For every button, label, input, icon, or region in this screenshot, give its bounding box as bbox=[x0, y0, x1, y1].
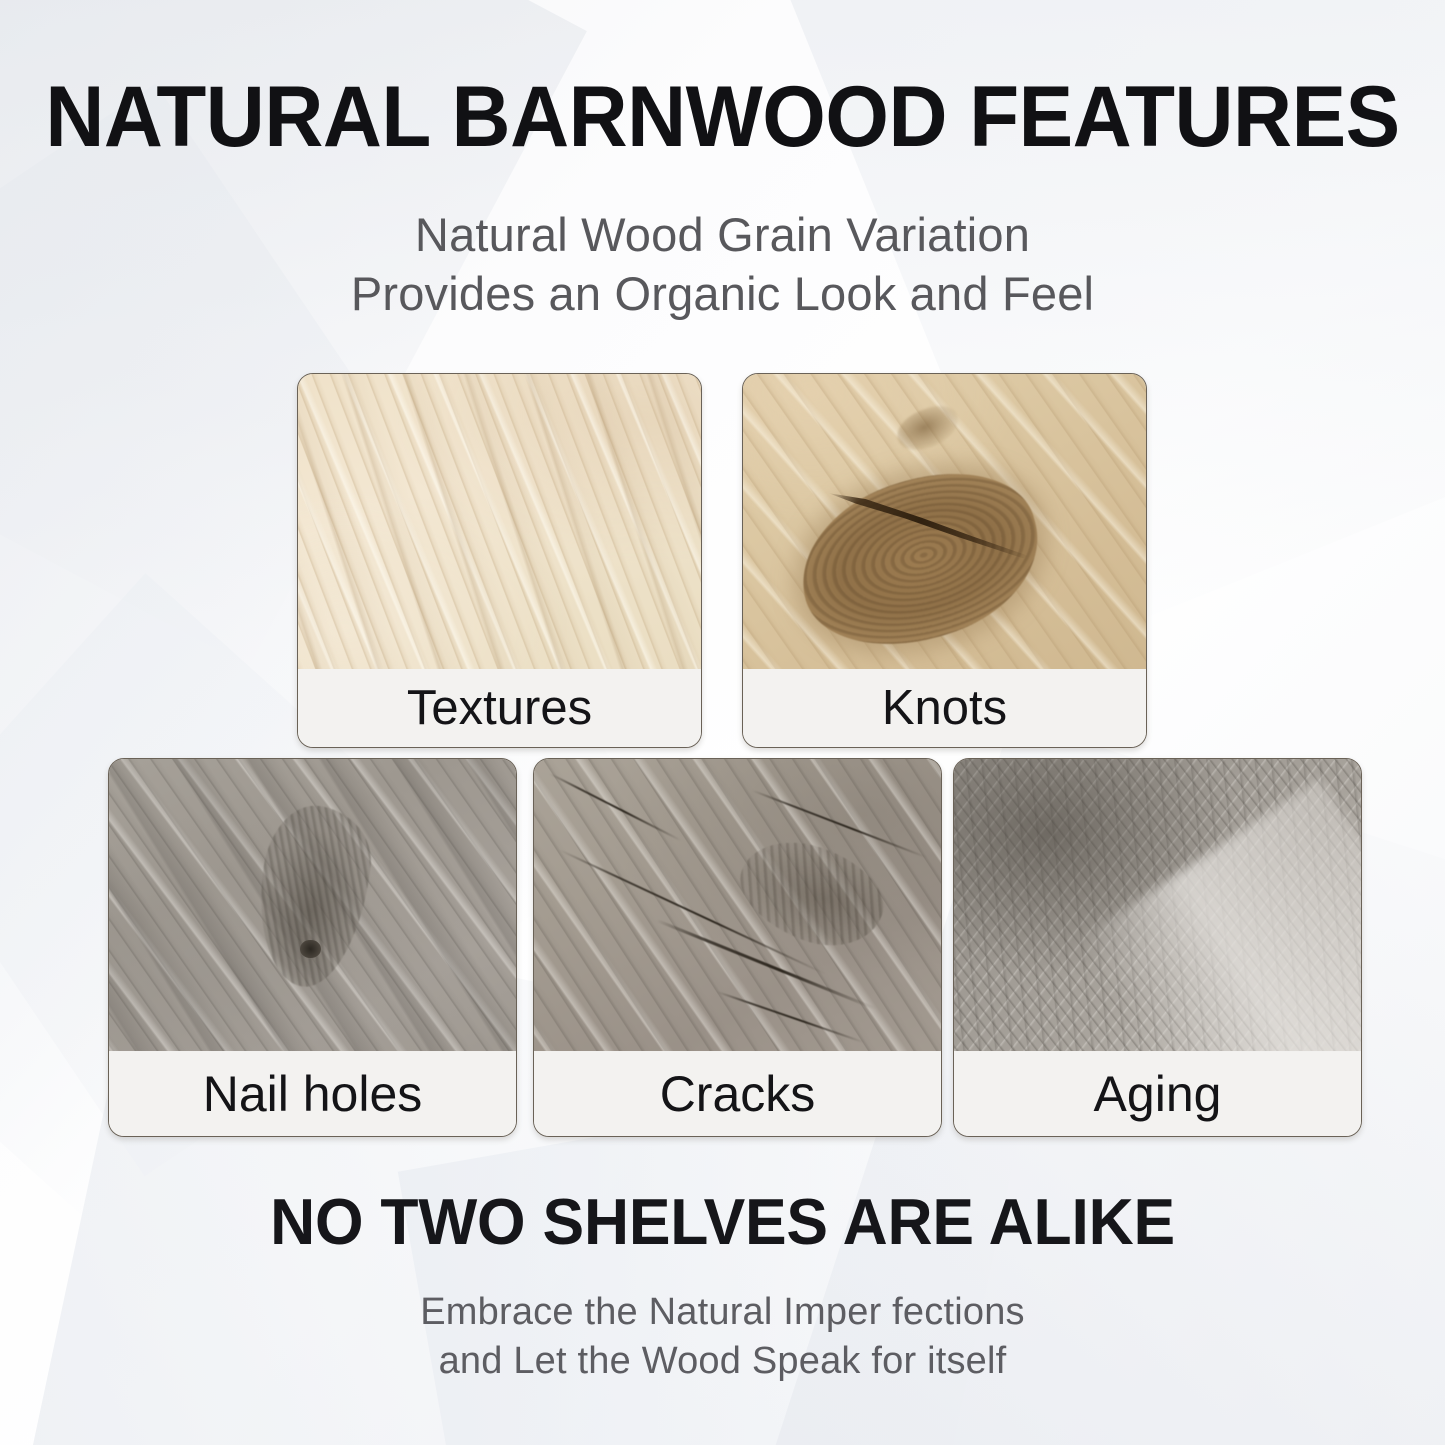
feature-image-knots bbox=[743, 374, 1146, 669]
feature-caption-aging: Aging bbox=[954, 1052, 1361, 1136]
footer-tagline: Embrace the Natural Imper fections and L… bbox=[0, 1288, 1445, 1387]
footer-headline: NO TWO SHELVES ARE ALIKE bbox=[29, 1189, 1416, 1254]
infographic-page: NATURAL BARNWOOD FEATURES Natural Wood G… bbox=[0, 0, 1445, 1445]
feature-label: Cracks bbox=[660, 1065, 816, 1123]
feature-image-textures bbox=[298, 374, 701, 669]
subtitle-line-2: Provides an Organic Look and Feel bbox=[0, 264, 1445, 323]
feature-label: Aging bbox=[1094, 1065, 1222, 1123]
feature-card-textures: Textures bbox=[297, 373, 702, 748]
feature-caption-cracks: Cracks bbox=[534, 1052, 941, 1136]
tagline-line-1: Embrace the Natural Imper fections bbox=[0, 1288, 1445, 1337]
feature-caption-knots: Knots bbox=[743, 669, 1146, 747]
feature-caption-textures: Textures bbox=[298, 669, 701, 747]
subtitle-line-1: Natural Wood Grain Variation bbox=[0, 205, 1445, 264]
feature-image-cracks bbox=[534, 759, 941, 1051]
page-title: NATURAL BARNWOOD FEATURES bbox=[36, 74, 1409, 160]
feature-image-nail-holes bbox=[109, 759, 516, 1051]
feature-card-cracks: Cracks bbox=[533, 758, 942, 1137]
grain-shadows bbox=[298, 374, 701, 669]
feature-label: Nail holes bbox=[203, 1065, 423, 1123]
feature-caption-nail-holes: Nail holes bbox=[109, 1052, 516, 1136]
feature-card-aging: Aging bbox=[953, 758, 1362, 1137]
feature-label: Knots bbox=[882, 680, 1007, 736]
feature-card-knots: Knots bbox=[742, 373, 1147, 748]
nail-hole-core bbox=[300, 940, 320, 958]
feature-card-nail-holes: Nail holes bbox=[108, 758, 517, 1137]
wood-texture-cream bbox=[298, 374, 701, 669]
page-subtitle: Natural Wood Grain Variation Provides an… bbox=[0, 205, 1445, 323]
feature-label: Textures bbox=[407, 680, 592, 736]
tagline-line-2: and Let the Wood Speak for itself bbox=[0, 1337, 1445, 1386]
feature-image-aging bbox=[954, 759, 1361, 1051]
